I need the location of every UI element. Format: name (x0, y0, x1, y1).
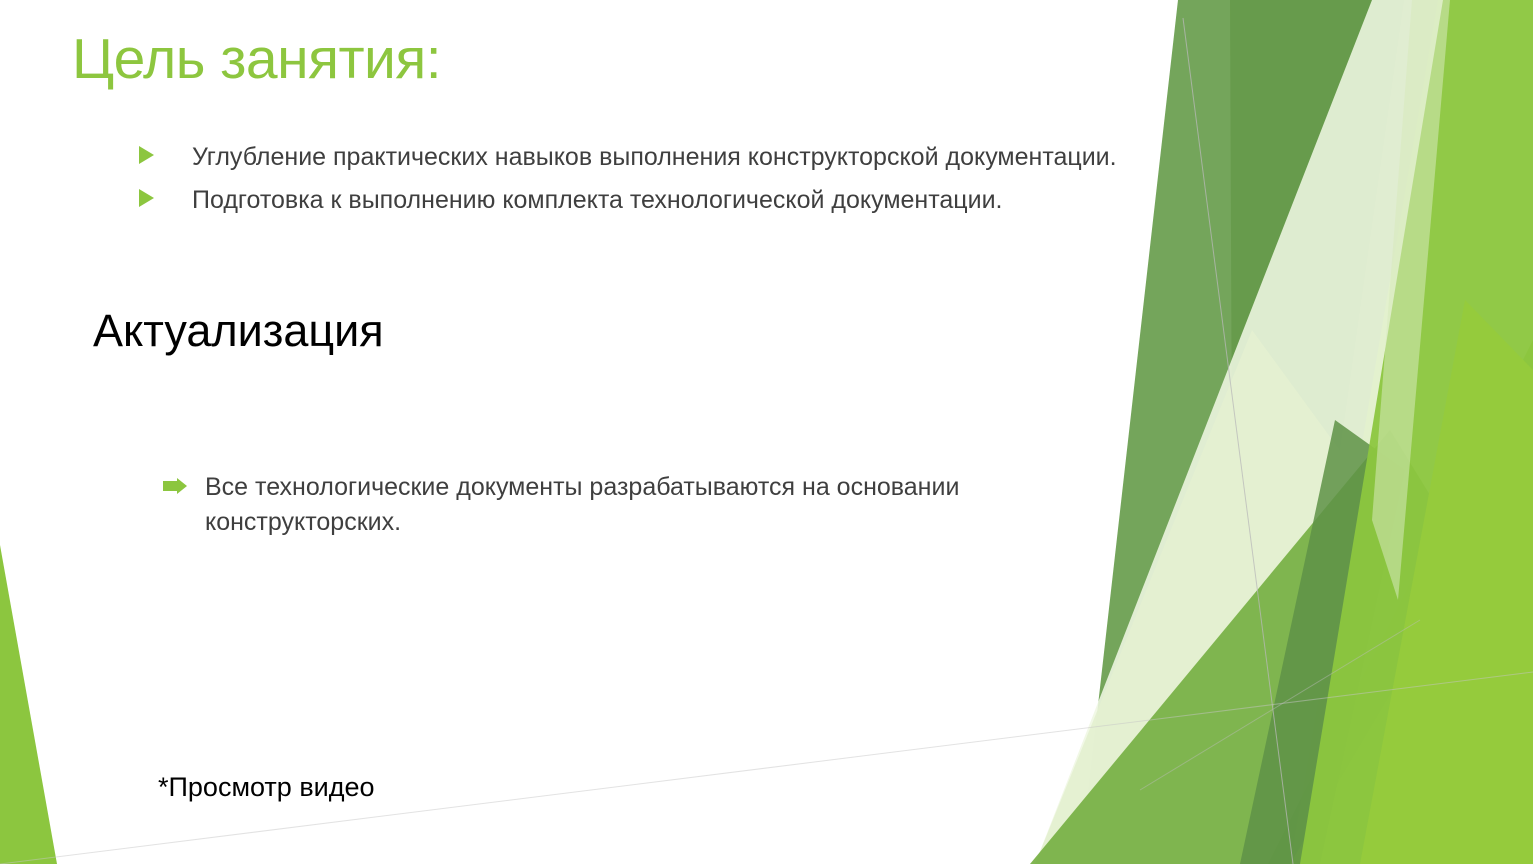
goals-bullet-list: Углубление практических навыков выполнен… (138, 140, 1228, 226)
presentation-slide: Цель занятия: Углубление практических на… (0, 0, 1533, 864)
list-item: Углубление практических навыков выполнен… (138, 140, 1228, 174)
triangle-right-icon (138, 189, 154, 207)
section-heading: Актуализация (93, 305, 384, 357)
list-item-label: Углубление практических навыков выполнен… (192, 140, 1117, 174)
triangle-right-icon (138, 146, 154, 164)
list-item: Подготовка к выполнению комплекта технол… (138, 183, 1228, 217)
actualization-bullet-list: Все технологические документы разрабатыв… (163, 470, 1103, 549)
slide-title: Цель занятия: (72, 26, 441, 92)
list-item: Все технологические документы разрабатыв… (163, 470, 1103, 540)
list-item-label: Подготовка к выполнению комплекта технол… (192, 183, 1003, 217)
pennant-arrow-right-icon (163, 478, 187, 494)
footnote-text: *Просмотр видео (158, 772, 375, 803)
list-item-label: Все технологические документы разрабатыв… (205, 470, 1095, 540)
